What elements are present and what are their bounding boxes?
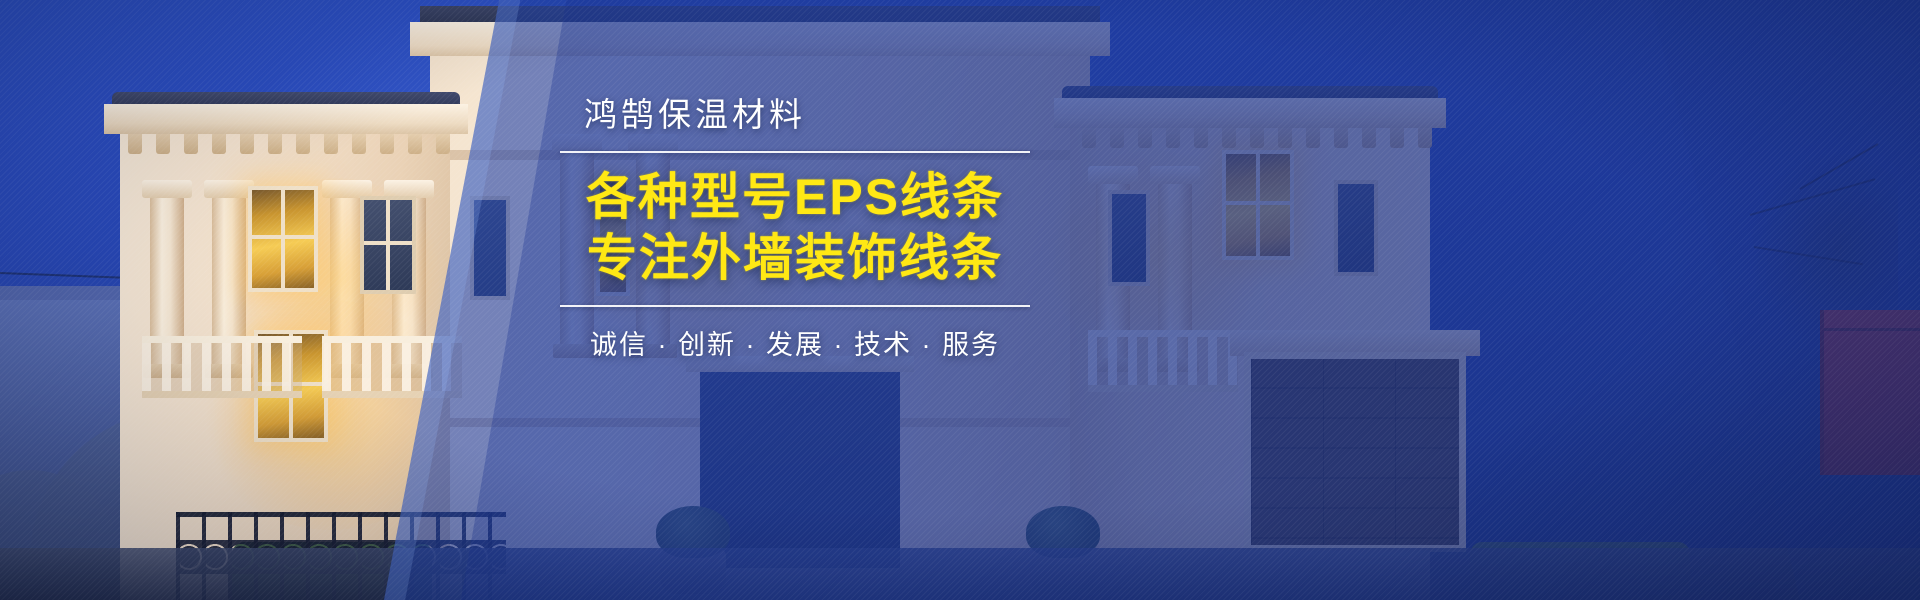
divider-bottom: [560, 305, 1030, 307]
tagline: 诚信 · 创新 · 发展 · 技术 · 服务: [560, 323, 1030, 362]
balustrade-left-1: [142, 336, 302, 398]
divider-top: [560, 151, 1030, 153]
brand-name: 鸿鹄保温材料: [560, 96, 1030, 135]
villa-left-cornice: [104, 104, 468, 134]
window-upper-left-1: [248, 186, 318, 292]
villa-left-dentils: [128, 134, 440, 154]
headline-line-2: 专注外墙装饰线条: [560, 228, 1030, 289]
headline-line-1: 各种型号EPS线条: [560, 167, 1030, 228]
banner-content: 鸿鹄保温材料 各种型号EPS线条 专注外墙装饰线条 诚信 · 创新 · 发展 ·…: [560, 96, 1030, 362]
hero-banner: 鸿鹄保温材料 各种型号EPS线条 专注外墙装饰线条 诚信 · 创新 · 发展 ·…: [0, 0, 1920, 600]
window-upper-left-2: [360, 196, 416, 294]
